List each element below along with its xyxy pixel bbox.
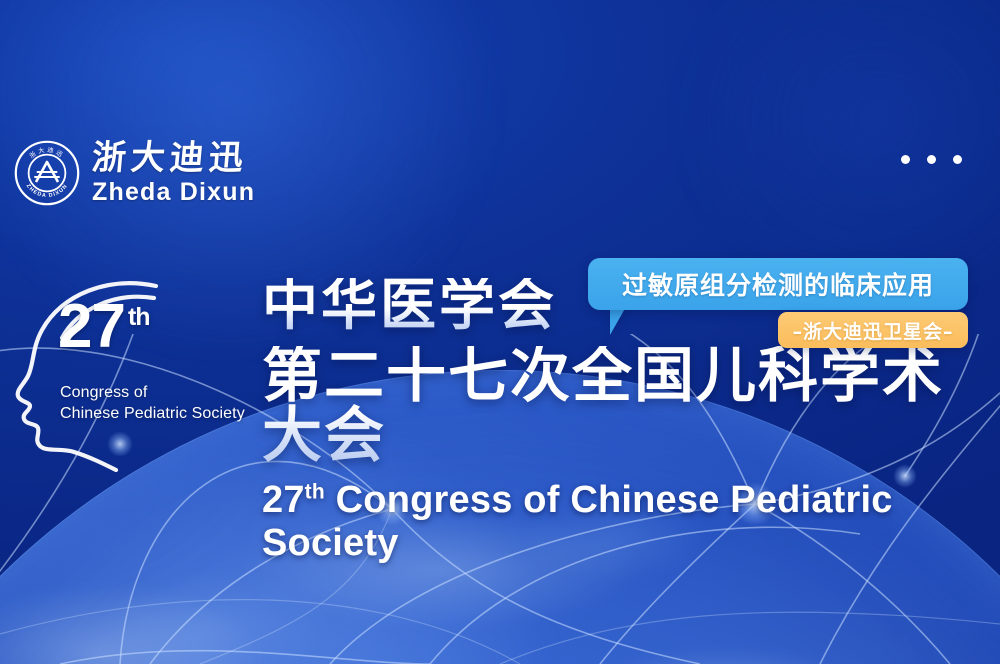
svg-text:浙大迪迅: 浙大迪迅: [28, 146, 66, 160]
emblem-subtitle: Congress of Chinese Pediatric Society: [60, 382, 245, 424]
dot-icon: [901, 155, 910, 164]
title-line-2-cn: 第二十七次全国儿科学术大会: [262, 346, 1000, 466]
dot-icon: [927, 155, 936, 164]
brand-logo: 浙大迪迅 ZHEDA DIXUN 浙大迪迅 Zheda Dixun: [14, 140, 255, 206]
sponsor-tag-text: –浙大迪迅卫星会–: [792, 317, 953, 344]
speech-bubble-text: 过敏原组分检测的临床应用: [588, 258, 968, 310]
dot-icon: [953, 155, 962, 164]
decorative-dots: [901, 155, 962, 164]
speech-bubble: 过敏原组分检测的临床应用: [588, 258, 968, 310]
brand-name-en: Zheda Dixun: [92, 180, 255, 205]
congress-banner: 浙大迪迅 ZHEDA DIXUN 浙大迪迅 Zheda Dixun 27th: [0, 0, 1000, 664]
emblem-ordinal-number: 27: [58, 292, 125, 361]
emblem-subtitle-line1: Congress of: [60, 382, 245, 403]
sponsor-tag: –浙大迪迅卫星会–: [778, 312, 968, 348]
emblem-ordinal: 27th: [58, 296, 150, 358]
company-seal-icon: 浙大迪迅 ZHEDA DIXUN: [14, 140, 80, 206]
title-en-rest: Congress of Chinese Pediatric Society: [262, 479, 893, 564]
title-en-number: 27: [262, 479, 305, 521]
emblem-subtitle-line2: Chinese Pediatric Society: [60, 403, 245, 424]
brand-wordmark: 浙大迪迅 Zheda Dixun: [92, 141, 255, 205]
title-en-suffix: th: [305, 480, 325, 503]
title-line-3-en: 27th Congress of Chinese Pediatric Socie…: [262, 479, 1000, 565]
emblem-ordinal-suffix: th: [128, 303, 150, 331]
brand-name-cn: 浙大迪迅: [91, 141, 257, 175]
